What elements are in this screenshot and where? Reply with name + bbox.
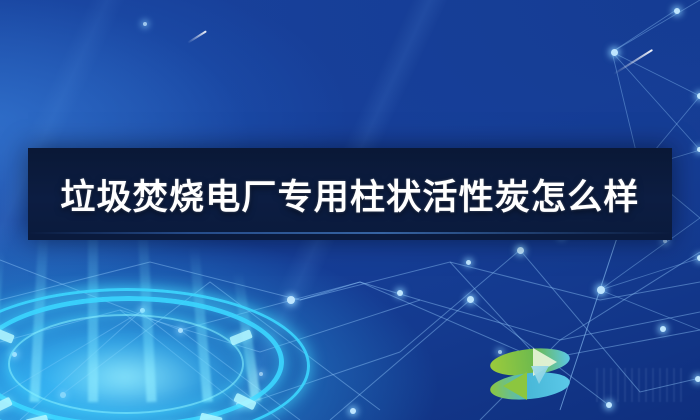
- network-node: [143, 22, 147, 26]
- network-node: [466, 260, 471, 265]
- glowing-tech-platform: [0, 262, 330, 420]
- network-node: [397, 290, 403, 296]
- network-node: [606, 402, 612, 408]
- hud-ring-inner: [8, 314, 244, 414]
- banner-image: 垃圾焚烧电厂专用柱状活性炭怎么样: [0, 0, 700, 420]
- title-band: 垃圾焚烧电厂专用柱状活性炭怎么样: [28, 148, 672, 240]
- network-node: [695, 376, 700, 382]
- network-node: [611, 49, 618, 56]
- banner-title: 垃圾焚烧电厂专用柱状活性炭怎么样: [28, 148, 672, 240]
- network-node: [517, 247, 524, 254]
- network-node: [660, 326, 666, 332]
- network-node: [597, 286, 605, 294]
- network-node: [350, 408, 356, 414]
- brand-logo-mark: [487, 338, 573, 404]
- faint-watermark: [596, 368, 684, 402]
- network-node: [674, 8, 680, 14]
- network-node: [467, 296, 474, 303]
